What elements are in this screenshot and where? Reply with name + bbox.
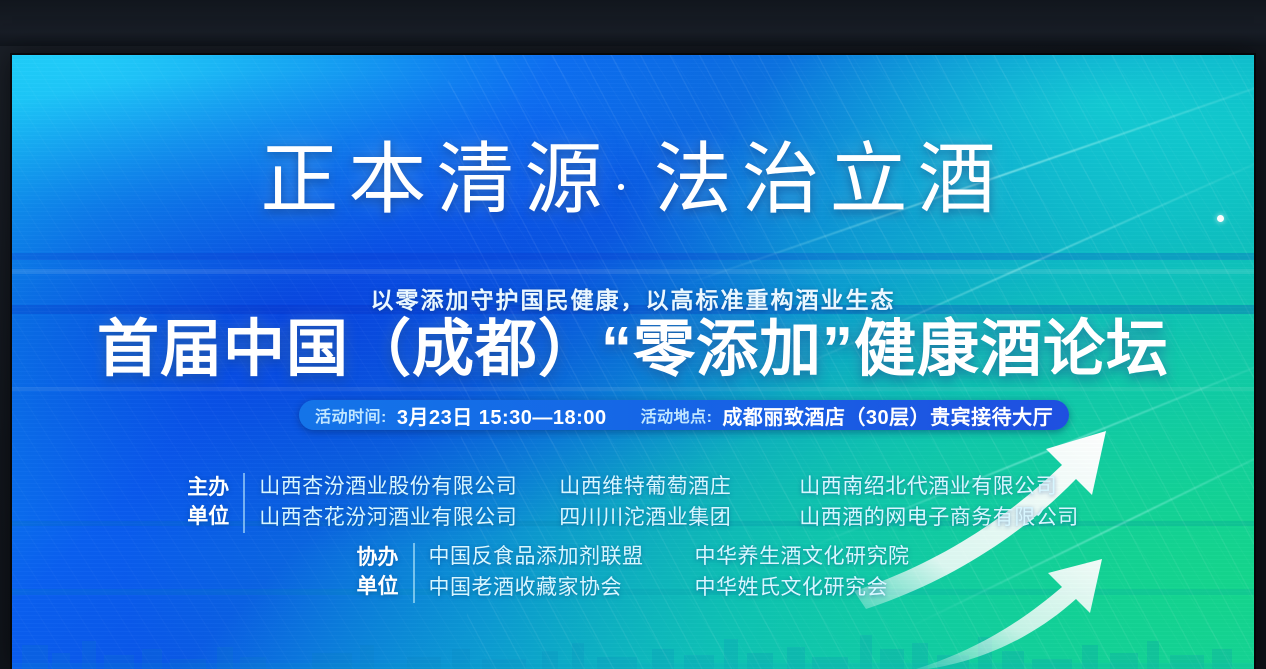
host-label: 主办 单位 (187, 474, 229, 532)
host-item: 山西南绍北代酒业有限公司 (799, 473, 1079, 502)
coorganizer-label: 协办 单位 (357, 544, 399, 602)
led-screen: 正本清源·法治立酒 以零添加守护国民健康，以高标准重构酒业生态 首届中国（成都）… (12, 55, 1254, 669)
host-item: 山西杏汾酒业股份有限公司 (259, 473, 533, 502)
host-item: 山西杏花汾河酒业有限公司 (259, 504, 533, 533)
banner-title-left: 正本清源 (260, 136, 612, 223)
event-place-value: 成都丽致酒店（30层）贵宾接待大厅 (722, 401, 1053, 430)
banner-content: 正本清源·法治立酒 以零添加守护国民健康，以高标准重构酒业生态 首届中国（成都）… (12, 55, 1254, 669)
event-time-label: 活动时间: (315, 403, 387, 427)
host-label-line2: 单位 (187, 503, 229, 532)
coorganizer-organizations: 协办 单位 中国反食品添加剂联盟 中华养生酒文化研究院 中国老酒收藏家协会 中华… (12, 543, 1254, 603)
host-organizations: 主办 单位 山西杏汾酒业股份有限公司 山西维特葡萄酒庄 山西南绍北代酒业有限公司… (12, 473, 1254, 533)
banner-title-separator: · (612, 159, 653, 216)
coorganizer-item: 中国反食品添加剂联盟 (429, 543, 669, 572)
host-label-line1: 主办 (187, 474, 229, 503)
coorganizer-label-line2: 单位 (357, 573, 399, 602)
banner-subtitle: 以零添加守护国民健康，以高标准重构酒业生态 (12, 281, 1254, 315)
host-item: 四川川沱酒业集团 (559, 504, 773, 533)
event-place-label: 活动地点: (641, 403, 713, 427)
event-info-bar: 活动时间: 3月23日 15:30—18:00 活动地点: 成都丽致酒店（30层… (299, 400, 1069, 430)
host-list: 山西杏汾酒业股份有限公司 山西维特葡萄酒庄 山西南绍北代酒业有限公司 山西杏花汾… (259, 473, 1079, 533)
coorganizer-list: 中国反食品添加剂联盟 中华养生酒文化研究院 中国老酒收藏家协会 中华姓氏文化研究… (429, 543, 910, 603)
coorganizer-item: 中国老酒收藏家协会 (429, 574, 669, 603)
coorganizer-item: 中华养生酒文化研究院 (695, 543, 910, 572)
host-item: 山西维特葡萄酒庄 (559, 473, 773, 502)
banner-title-right: 法治立酒 (654, 136, 1006, 223)
banner-headline: 首届中国（成都）“零添加”健康酒论坛 (12, 317, 1254, 384)
coorganizer-divider (413, 543, 415, 603)
host-item: 山西酒的网电子商务有限公司 (799, 504, 1079, 533)
banner-title: 正本清源·法治立酒 (12, 141, 1254, 219)
coorganizer-item: 中华姓氏文化研究会 (695, 574, 910, 603)
coorganizer-label-line1: 协办 (357, 544, 399, 573)
event-time-value: 3月23日 15:30—18:00 (397, 401, 607, 430)
host-divider (243, 473, 245, 533)
photo-of-led-screen: 正本清源·法治立酒 以零添加守护国民健康，以高标准重构酒业生态 首届中国（成都）… (0, 0, 1266, 669)
